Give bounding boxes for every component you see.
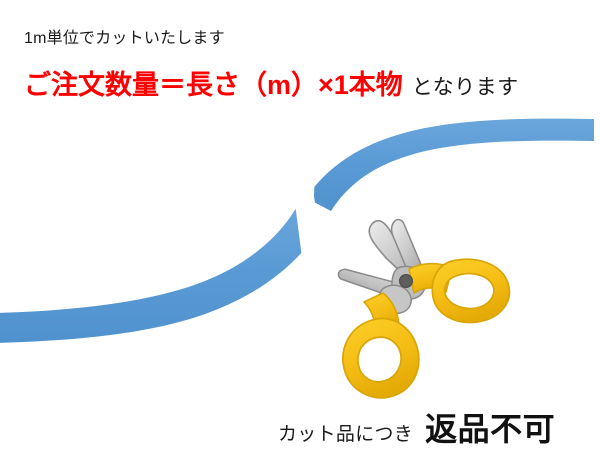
illustration-canvas: 1m単位でカットいたします ご注文数量＝長さ（m）×1本物となります カット品に… — [0, 0, 600, 466]
scissors-graphic — [0, 0, 600, 466]
scissors-pivot-rivet — [400, 275, 413, 288]
